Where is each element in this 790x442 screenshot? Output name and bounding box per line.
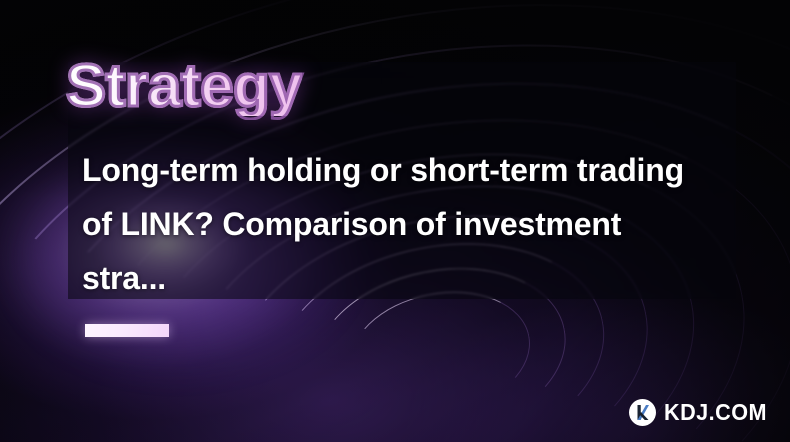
- article-banner: Strategy Long-term holding or short-term…: [0, 0, 790, 442]
- brand-name: KDJ.COM: [664, 401, 767, 424]
- accent-bar: [85, 324, 169, 337]
- brand-logo[interactable]: KDJ.COM: [629, 399, 774, 426]
- headline-text: Long-term holding or short-term trading …: [82, 143, 708, 305]
- kdj-k-circle-icon: [629, 399, 656, 426]
- category-title: Strategy: [66, 56, 302, 116]
